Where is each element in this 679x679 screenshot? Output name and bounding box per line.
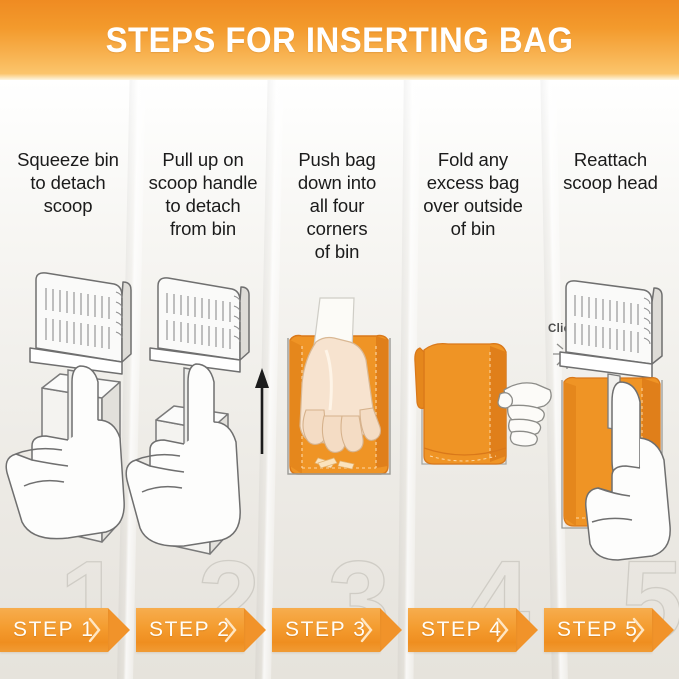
banner-arrow-tip: [516, 608, 538, 652]
caption-line: Reattach: [542, 148, 679, 171]
step-panel-1: Squeeze bin to detach scoop 1: [0, 80, 136, 679]
step-caption-2: Pull up on scoop handle to detach from b…: [138, 148, 268, 240]
step-panel-3: Push bag down into all four corners of b…: [270, 80, 404, 679]
caption-line: Push bag: [270, 148, 404, 171]
illustration-fold-bag-over-bin: [408, 328, 554, 488]
chevron-right-icon: [224, 617, 238, 643]
caption-line: to detach: [138, 194, 268, 217]
caption-line: Fold any: [406, 148, 540, 171]
panel-board: Squeeze bin to detach scoop 1: [0, 80, 679, 679]
caption-line: scoop handle: [138, 171, 268, 194]
caption-line: Pull up on: [138, 148, 268, 171]
banner-arrow-tip: [380, 608, 402, 652]
caption-line: of bin: [406, 217, 540, 240]
step-banner-label: STEP 1: [0, 618, 95, 642]
step-panel-5: Reattach scoop head 5 Click!: [542, 80, 679, 679]
page-title: STEPS FOR INSERTING BAG: [20, 21, 658, 61]
step-banner-4[interactable]: STEP 4: [408, 608, 538, 652]
caption-line: Squeeze bin: [0, 148, 136, 171]
chevron-right-icon: [632, 617, 646, 643]
step-banner-row: STEP 1 STEP 2 STEP 3: [0, 608, 679, 652]
chevron-right-icon: [88, 617, 102, 643]
step-banner-2[interactable]: STEP 2: [136, 608, 266, 652]
banner-arrow-tip: [108, 608, 130, 652]
caption-line: from bin: [138, 217, 268, 240]
caption-line: of bin: [270, 240, 404, 263]
illustration-squeeze-bin: [2, 270, 138, 560]
caption-line: excess bag: [406, 171, 540, 194]
step-banner-1[interactable]: STEP 1: [0, 608, 130, 652]
step-caption-4: Fold any excess bag over outside of bin: [406, 148, 540, 240]
step-caption-1: Squeeze bin to detach scoop: [0, 148, 136, 217]
caption-line: all four: [270, 194, 404, 217]
chevron-right-icon: [360, 617, 374, 643]
illustration-pull-scoop-up: [134, 272, 274, 562]
illustration-push-bag-in-bin: [280, 298, 400, 498]
poster-header: STEPS FOR INSERTING BAG: [0, 0, 679, 80]
step-banner-3[interactable]: STEP 3: [272, 608, 402, 652]
step-banner-5[interactable]: STEP 5: [544, 608, 674, 652]
caption-line: corners: [270, 217, 404, 240]
caption-line: to detach: [0, 171, 136, 194]
banner-arrow-tip: [244, 608, 266, 652]
step-banner-label: STEP 2: [136, 618, 231, 642]
caption-line: down into: [270, 171, 404, 194]
caption-line: over outside: [406, 194, 540, 217]
step-banner-label: STEP 4: [408, 618, 503, 642]
step-caption-3: Push bag down into all four corners of b…: [270, 148, 404, 263]
step-caption-5: Reattach scoop head: [542, 148, 679, 194]
step-banner-label: STEP 3: [272, 618, 367, 642]
step-panel-4: Fold any excess bag over outside of bin …: [406, 80, 540, 679]
illustration-reattach-scoop: [556, 278, 679, 568]
step-banner-label: STEP 5: [544, 618, 639, 642]
banner-arrow-tip: [652, 608, 674, 652]
instruction-poster: STEPS FOR INSERTING BAG Squeeze bin to d…: [0, 0, 679, 679]
chevron-right-icon: [496, 617, 510, 643]
step-panel-2: Pull up on scoop handle to detach from b…: [138, 80, 268, 679]
caption-line: scoop head: [542, 171, 679, 194]
caption-line: scoop: [0, 194, 136, 217]
